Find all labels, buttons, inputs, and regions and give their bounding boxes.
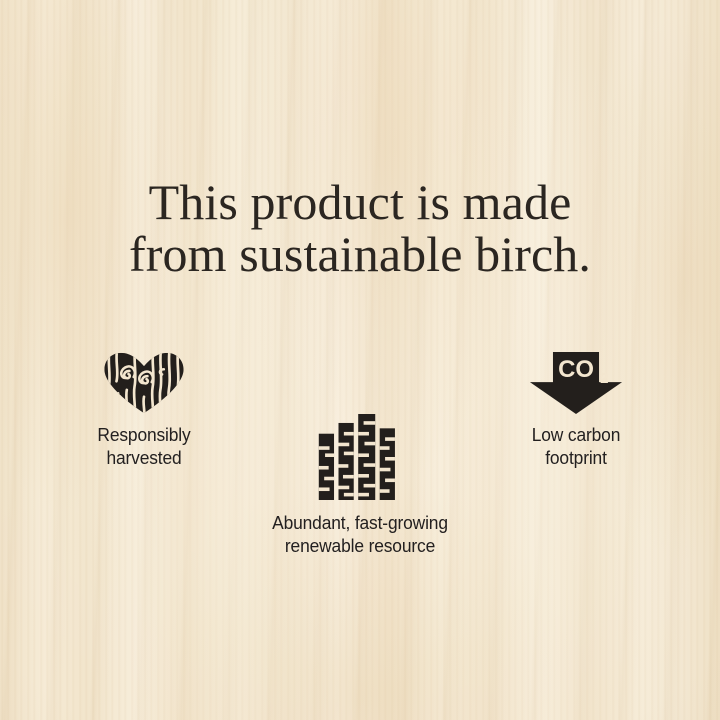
wood-grain-heart-icon (101, 352, 187, 414)
badge-icon-wrapper: CO 2 (468, 352, 684, 414)
badge-low-carbon-footprint: CO 2 Low carbon footprint (468, 352, 684, 469)
birch-trunks-icon (317, 412, 403, 502)
poster-content: This product is made from sustainable bi… (0, 0, 720, 720)
co2-icon-subscript: 2 (600, 370, 608, 387)
sustainable-birch-poster: This product is made from sustainable bi… (0, 0, 720, 720)
badge-icon-wrapper (36, 352, 252, 414)
page-title: This product is made from sustainable bi… (0, 176, 720, 280)
badge-caption: Abundant, fast-growing renewable resourc… (258, 511, 461, 557)
co2-icon-label: CO (558, 356, 594, 383)
badge-caption: Responsibly harvested (42, 423, 245, 469)
badge-renewable-resource: Abundant, fast-growing renewable resourc… (252, 412, 468, 557)
badge-responsibly-harvested: Responsibly harvested (36, 352, 252, 469)
badge-row: Responsibly harvested (0, 352, 720, 582)
co2-down-arrow-icon: CO 2 (529, 352, 623, 414)
badge-icon-wrapper (252, 412, 468, 502)
badge-caption: Low carbon footprint (474, 423, 677, 469)
